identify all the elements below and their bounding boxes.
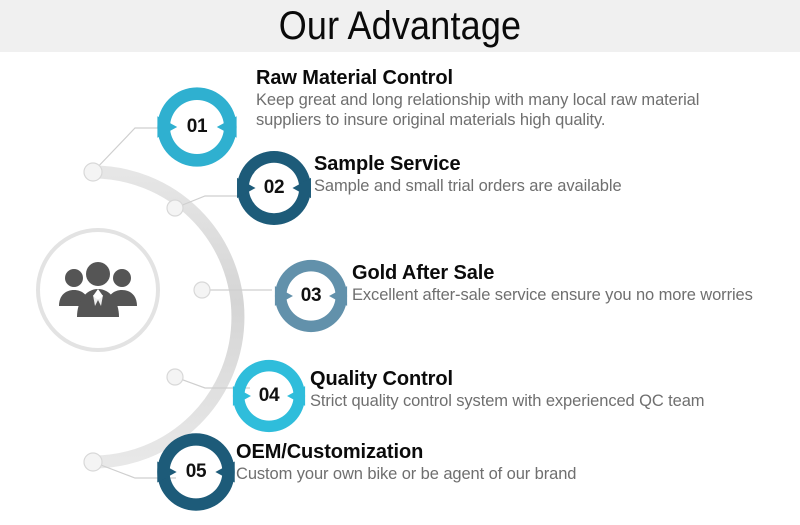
- advantage-text-2: Sample Service Sample and small trial or…: [314, 152, 800, 196]
- team-people-icon: [57, 259, 139, 321]
- advantage-desc-1: Keep great and long relationship with ma…: [256, 90, 800, 130]
- infographic-page: Our Advantage: [0, 0, 800, 525]
- advantage-desc-2: Sample and small trial orders are availa…: [314, 176, 800, 196]
- badge-number-3: 03: [270, 255, 352, 337]
- circular-arrows-icon-1: 01: [152, 82, 242, 172]
- advantage-title-4: Quality Control: [310, 367, 800, 391]
- circular-arrows-icon-2: 02: [232, 146, 316, 230]
- page-title: Our Advantage: [40, 2, 760, 50]
- advantage-text-3: Gold After Sale Excellent after-sale ser…: [352, 261, 800, 305]
- advantage-title-5: OEM/Customization: [236, 440, 736, 464]
- badge-number-1: 01: [152, 82, 242, 172]
- advantage-text-5: OEM/Customization Custom your own bike o…: [236, 440, 736, 484]
- advantage-title-2: Sample Service: [314, 152, 800, 176]
- badge-number-5: 05: [152, 428, 240, 516]
- circular-arrows-icon-3: 03: [270, 255, 352, 337]
- advantage-text-1: Raw Material Control Keep great and long…: [256, 66, 800, 130]
- badge-number-4: 04: [228, 355, 310, 437]
- circular-arrows-icon-4: 04: [228, 355, 310, 437]
- advantage-title-3: Gold After Sale: [352, 261, 800, 285]
- badge-number-2: 02: [232, 146, 316, 230]
- advantage-desc-5: Custom your own bike or be agent of our …: [236, 464, 736, 484]
- circular-arrows-icon-5: 05: [152, 428, 240, 516]
- hub-circle: [36, 228, 160, 352]
- advantage-text-4: Quality Control Strict quality control s…: [310, 367, 800, 411]
- advantage-desc-3: Excellent after-sale service ensure you …: [352, 285, 800, 305]
- advantage-title-1: Raw Material Control: [256, 66, 800, 90]
- advantage-desc-4: Strict quality control system with exper…: [310, 391, 800, 411]
